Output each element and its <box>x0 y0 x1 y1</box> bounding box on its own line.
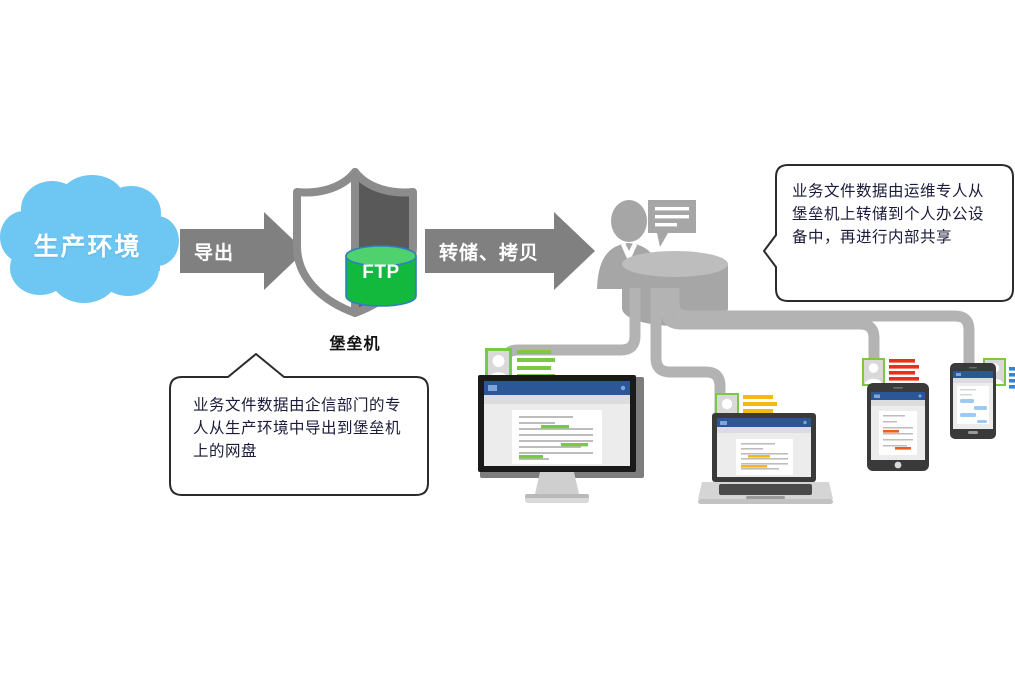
callout-left: 业务文件数据由企信部门的专人从生产环境中导出到堡垒机上的网盘 <box>168 352 430 507</box>
laptop-icon <box>698 413 833 508</box>
phone-icon <box>950 363 996 439</box>
arrow-transfer-copy: 转储、拷贝 <box>425 212 595 290</box>
bastion-host-label: 堡垒机 <box>300 330 410 354</box>
tablet-icon <box>867 383 929 471</box>
arrow-export-label: 导出 <box>194 238 234 265</box>
cloud-label: 生产环境 <box>0 227 175 263</box>
arrow-transfer-copy-label: 转储、拷贝 <box>439 238 539 265</box>
callout-right-text: 业务文件数据由运维专人从堡垒机上转储到个人办公设备中，再进行内部共享 <box>792 180 997 249</box>
tablet <box>867 383 929 471</box>
callout-right: 业务文件数据由运维专人从堡垒机上转储到个人办公设备中，再进行内部共享 <box>762 163 1015 303</box>
ftp-label: FTP <box>345 262 417 284</box>
desktop-monitor <box>478 375 648 510</box>
diagram-canvas: 生产环境 导出 FTP 堡垒机 转储、拷贝 <box>0 0 1015 675</box>
callout-left-text: 业务文件数据由企信部门的专人从生产环境中导出到堡垒机上的网盘 <box>193 394 415 463</box>
ftp-database: FTP <box>345 245 417 307</box>
desktop-monitor-icon <box>478 375 648 510</box>
phone <box>950 363 996 439</box>
production-environment-cloud: 生产环境 <box>0 175 190 310</box>
laptop <box>698 413 833 508</box>
